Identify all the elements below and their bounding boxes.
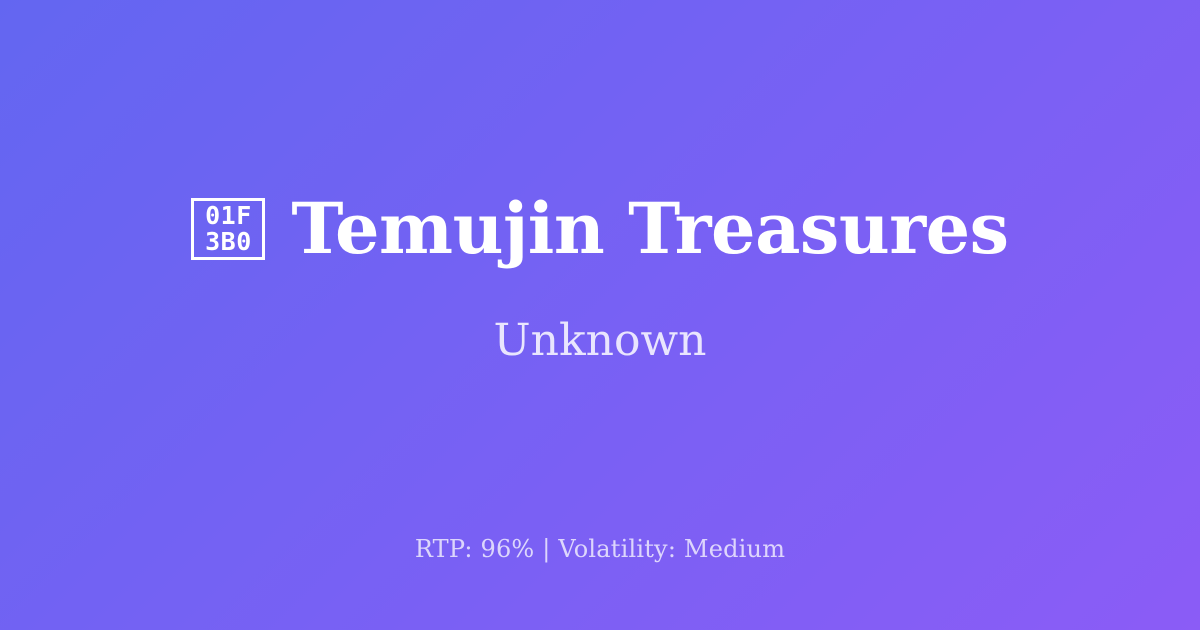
page-subtitle: Unknown bbox=[494, 316, 707, 367]
page-title: Temujin Treasures bbox=[291, 192, 1008, 266]
tofu-codepoint-top: 01F bbox=[205, 203, 252, 229]
card-footer: RTP: 96% | Volatility: Medium bbox=[0, 535, 1200, 564]
og-card: 01F 3B0 Temujin Treasures Unknown RTP: 9… bbox=[0, 0, 1200, 630]
tofu-codepoint-bottom: 3B0 bbox=[205, 229, 252, 255]
title-row: 01F 3B0 Temujin Treasures bbox=[191, 192, 1008, 266]
slot-machine-icon: 01F 3B0 bbox=[191, 198, 265, 260]
game-meta-line: RTP: 96% | Volatility: Medium bbox=[415, 535, 785, 564]
